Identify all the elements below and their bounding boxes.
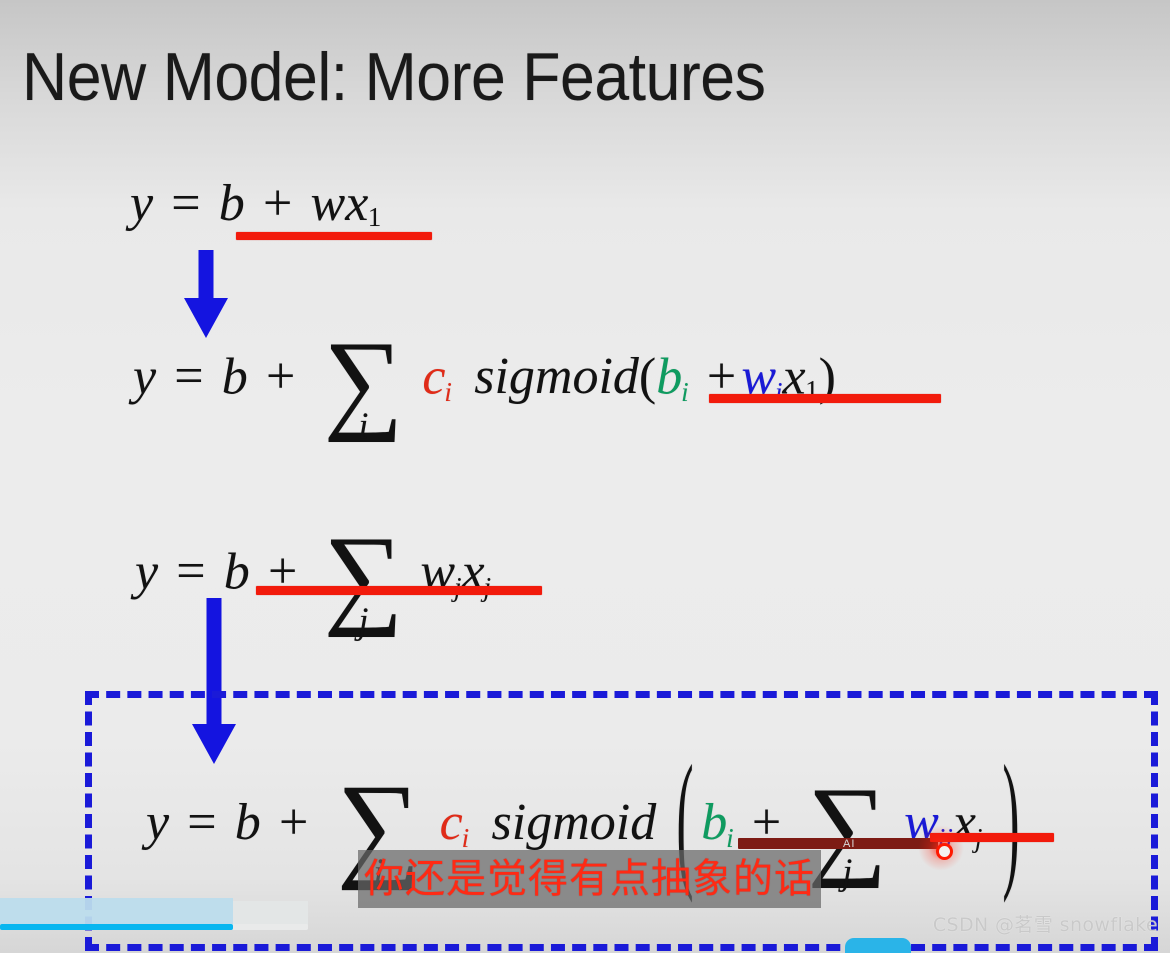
eq4-bi-subscript: i bbox=[726, 823, 734, 853]
eq1-lhs: y bbox=[130, 175, 153, 232]
eq2-lhs: y bbox=[133, 348, 156, 405]
eq4-sigmoid: sigmoid bbox=[492, 794, 657, 851]
eq4-equals: = bbox=[182, 794, 222, 851]
eq2-c-subscript: i bbox=[444, 377, 452, 407]
marker-underline-eq4-dark bbox=[738, 838, 938, 849]
eq3-summation: ∑ j bbox=[324, 528, 404, 624]
eq2-equals: = bbox=[169, 348, 209, 405]
csdn-watermark: CSDN @茗雪 snowflake bbox=[933, 910, 1158, 937]
eq1-b: b bbox=[219, 175, 245, 232]
slide-canvas: New Model: More Features y = b + wx1 y =… bbox=[0, 0, 1170, 953]
eq4-b: b bbox=[235, 794, 261, 851]
marker-underline-eq2 bbox=[709, 394, 941, 403]
eq2-paren-open: ( bbox=[639, 348, 656, 405]
down-arrow-2 bbox=[192, 598, 236, 764]
eq1-x-subscript: 1 bbox=[368, 202, 382, 232]
eq1-w: w bbox=[311, 175, 346, 232]
eq3-b: b bbox=[224, 543, 250, 600]
eq4-c-subscript: i bbox=[462, 823, 470, 853]
eq2-bi: b bbox=[656, 348, 682, 405]
subtitle-overlay: 你还是觉得有点抽象的话 bbox=[358, 850, 821, 908]
audio-waveform bbox=[0, 898, 233, 924]
eq2-summation: ∑ i bbox=[324, 333, 404, 429]
equation-3: y = b + ∑ j wjxj bbox=[135, 528, 491, 624]
eq1-equals: = bbox=[166, 175, 206, 232]
eq3-lhs: y bbox=[135, 543, 158, 600]
eq2-sigma-index: i bbox=[358, 408, 368, 445]
eq1-plus: + bbox=[258, 175, 298, 232]
eq3-equals: = bbox=[171, 543, 211, 600]
eq2-c: c bbox=[422, 348, 445, 405]
ai-tag-label: AI bbox=[843, 838, 855, 850]
down-arrow-1 bbox=[184, 250, 228, 338]
eq2-plus: + bbox=[261, 348, 301, 405]
eq4-c: c bbox=[440, 794, 463, 851]
eq4-inner-sigma-index: j bbox=[842, 854, 852, 891]
eq2-b: b bbox=[222, 348, 248, 405]
equation-1: y = b + wx1 bbox=[130, 178, 381, 231]
laser-pointer-dot bbox=[918, 825, 964, 871]
progress-fill[interactable] bbox=[0, 924, 233, 930]
marker-underline-eq1 bbox=[236, 232, 432, 240]
page-title: New Model: More Features bbox=[22, 38, 765, 116]
eq2-sigmoid: sigmoid bbox=[474, 348, 639, 405]
eq2-bi-subscript: i bbox=[681, 377, 689, 407]
eq3-sigma-index: j bbox=[358, 603, 368, 640]
eq4-bi: b bbox=[701, 794, 727, 851]
eq4-plus: + bbox=[274, 794, 314, 851]
marker-underline-eq3 bbox=[256, 586, 542, 595]
player-control-pill[interactable] bbox=[845, 938, 911, 953]
eq1-x: x bbox=[345, 175, 368, 232]
eq4-paren-close: ) bbox=[1003, 743, 1020, 896]
eq4-lhs: y bbox=[146, 794, 169, 851]
equation-2: y = b + ∑ i ci sigmoid(bi +wix1) bbox=[133, 333, 836, 429]
